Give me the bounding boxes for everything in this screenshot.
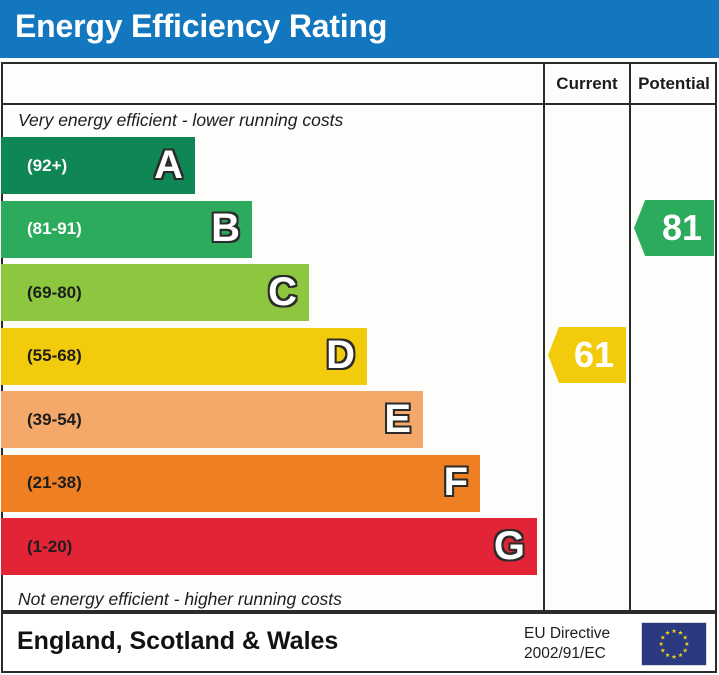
band-bar-f: (21-38)F [1,455,480,512]
directive-line-1: EU Directive [524,624,610,644]
band-range-e: (39-54) [27,410,82,430]
page-title: Energy Efficiency Rating [15,8,387,45]
band-bar-c: (69-80)C [1,264,309,321]
band-letter-e: E [384,399,411,439]
band-range-b: (81-91) [27,219,82,239]
current-rating-marker: 61 [548,327,626,383]
band-bar-a: (92+)A [1,137,195,194]
band-range-a: (92+) [27,156,67,176]
band-range-g: (1-20) [27,537,72,557]
current-rating-value: 61 [574,337,614,373]
footer-directive: EU Directive 2002/91/EC [524,624,610,664]
potential-column-divider [629,62,631,612]
eu-flag-icon [641,622,707,666]
band-bar-e: (39-54)E [1,391,423,448]
band-range-c: (69-80) [27,283,82,303]
band-letter-b: B [211,208,240,248]
header-row-divider [1,103,717,105]
band-letter-a: A [154,145,183,185]
band-range-d: (55-68) [27,346,82,366]
column-header-current: Current [545,72,629,96]
column-header-potential: Potential [631,72,717,96]
band-bar-b: (81-91)B [1,201,252,258]
title-bar: Energy Efficiency Rating [0,0,719,58]
potential-rating-value: 81 [662,210,702,246]
band-letter-g: G [494,526,525,566]
band-range-f: (21-38) [27,473,82,493]
directive-line-2: 2002/91/EC [524,644,610,664]
caption-bottom: Not energy efficient - higher running co… [18,589,342,610]
band-bar-d: (55-68)D [1,328,367,385]
energy-efficiency-rating-chart: Energy Efficiency Rating Current Potenti… [0,0,719,675]
band-letter-d: D [326,335,355,375]
potential-rating-marker: 81 [634,200,714,256]
band-letter-c: C [268,272,297,312]
footer-region-label: England, Scotland & Wales [17,627,338,656]
caption-top: Very energy efficient - lower running co… [18,110,343,131]
footer-divider [1,612,717,614]
band-bar-g: (1-20)G [1,518,537,575]
current-column-divider [543,62,545,612]
band-letter-f: F [444,462,468,502]
